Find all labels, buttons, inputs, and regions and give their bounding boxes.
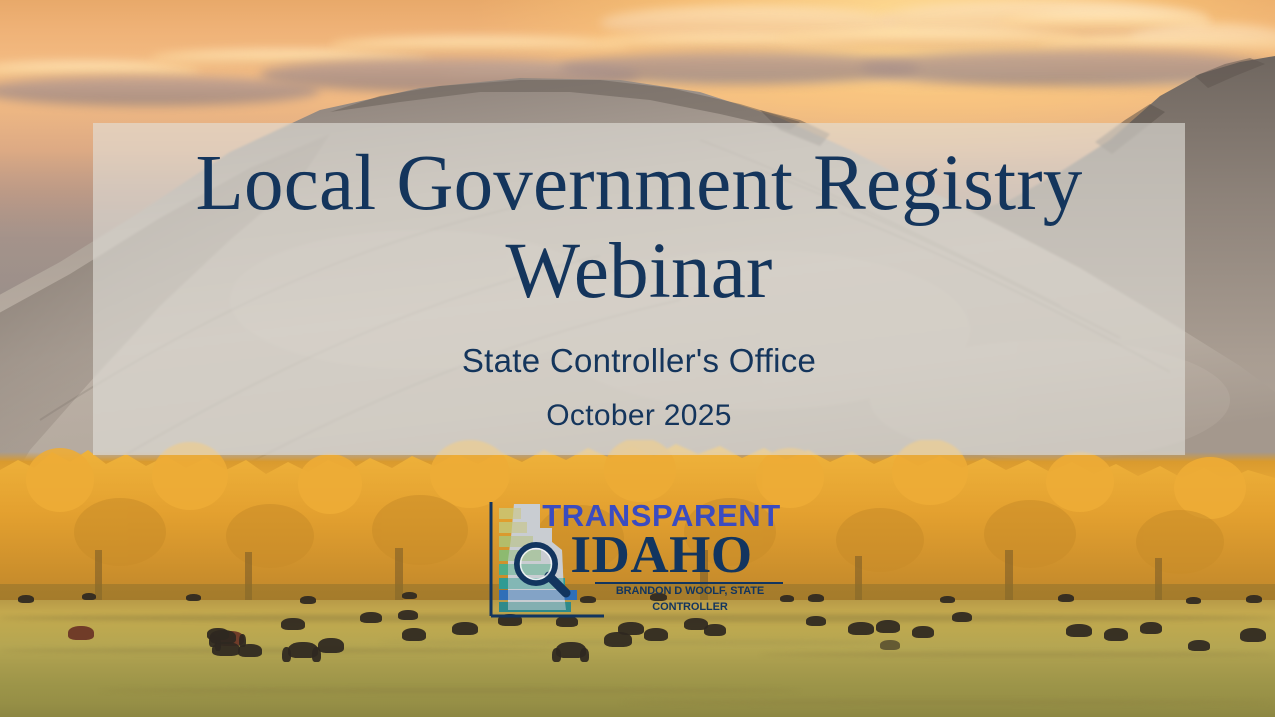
field-texture [0, 648, 560, 653]
cattle [912, 626, 934, 638]
page-title: Local Government Registry Webinar [196, 140, 1083, 316]
slide-date: October 2025 [546, 399, 731, 433]
cattle [552, 648, 561, 662]
logo-wordmark: TRANSPARENT IDAHO BRANDON D WOOLF, STATE… [540, 500, 783, 600]
cattle [402, 628, 426, 641]
cattle [282, 647, 291, 662]
cattle [281, 618, 305, 630]
cattle [1240, 628, 1266, 642]
cattle [68, 626, 94, 640]
cattle [1104, 628, 1128, 641]
cattle [1186, 597, 1201, 604]
transparent-idaho-logo[interactable]: TRANSPARENT IDAHO BRANDON D WOOLF, STATE… [478, 498, 783, 626]
cattle [880, 640, 900, 650]
cattle [604, 632, 632, 647]
cattle [1066, 624, 1092, 637]
cattle [186, 594, 201, 601]
cattle [1246, 595, 1262, 603]
cattle [300, 596, 316, 604]
cattle [876, 620, 900, 633]
cattle [580, 648, 589, 662]
field-texture [100, 688, 800, 693]
cattle [952, 612, 972, 622]
cattle [318, 638, 344, 653]
cattle [82, 593, 96, 600]
presentation-slide: Local Government Registry Webinar State … [0, 0, 1275, 717]
cattle [360, 612, 382, 623]
cattle [238, 644, 262, 657]
field-texture [760, 652, 1275, 657]
cattle [212, 642, 240, 656]
cattle [808, 594, 824, 602]
logo-tagline: BRANDON D WOOLF, STATE CONTROLLER [595, 583, 785, 615]
logo-idaho-text: IDAHO [540, 529, 783, 582]
cattle [1188, 640, 1210, 651]
field-texture [380, 640, 900, 645]
cattle [452, 622, 478, 635]
title-block: Local Government Registry Webinar State … [93, 123, 1185, 455]
cattle [1058, 594, 1074, 602]
cattle [398, 610, 418, 620]
cattle [644, 628, 668, 641]
cattle [848, 622, 874, 635]
field-texture [620, 700, 1275, 705]
cattle [806, 616, 826, 626]
cattle [402, 592, 417, 599]
slide-subtitle: State Controller's Office [462, 342, 816, 380]
cattle [1140, 622, 1162, 634]
cattle [18, 595, 34, 603]
cattle [940, 596, 955, 603]
